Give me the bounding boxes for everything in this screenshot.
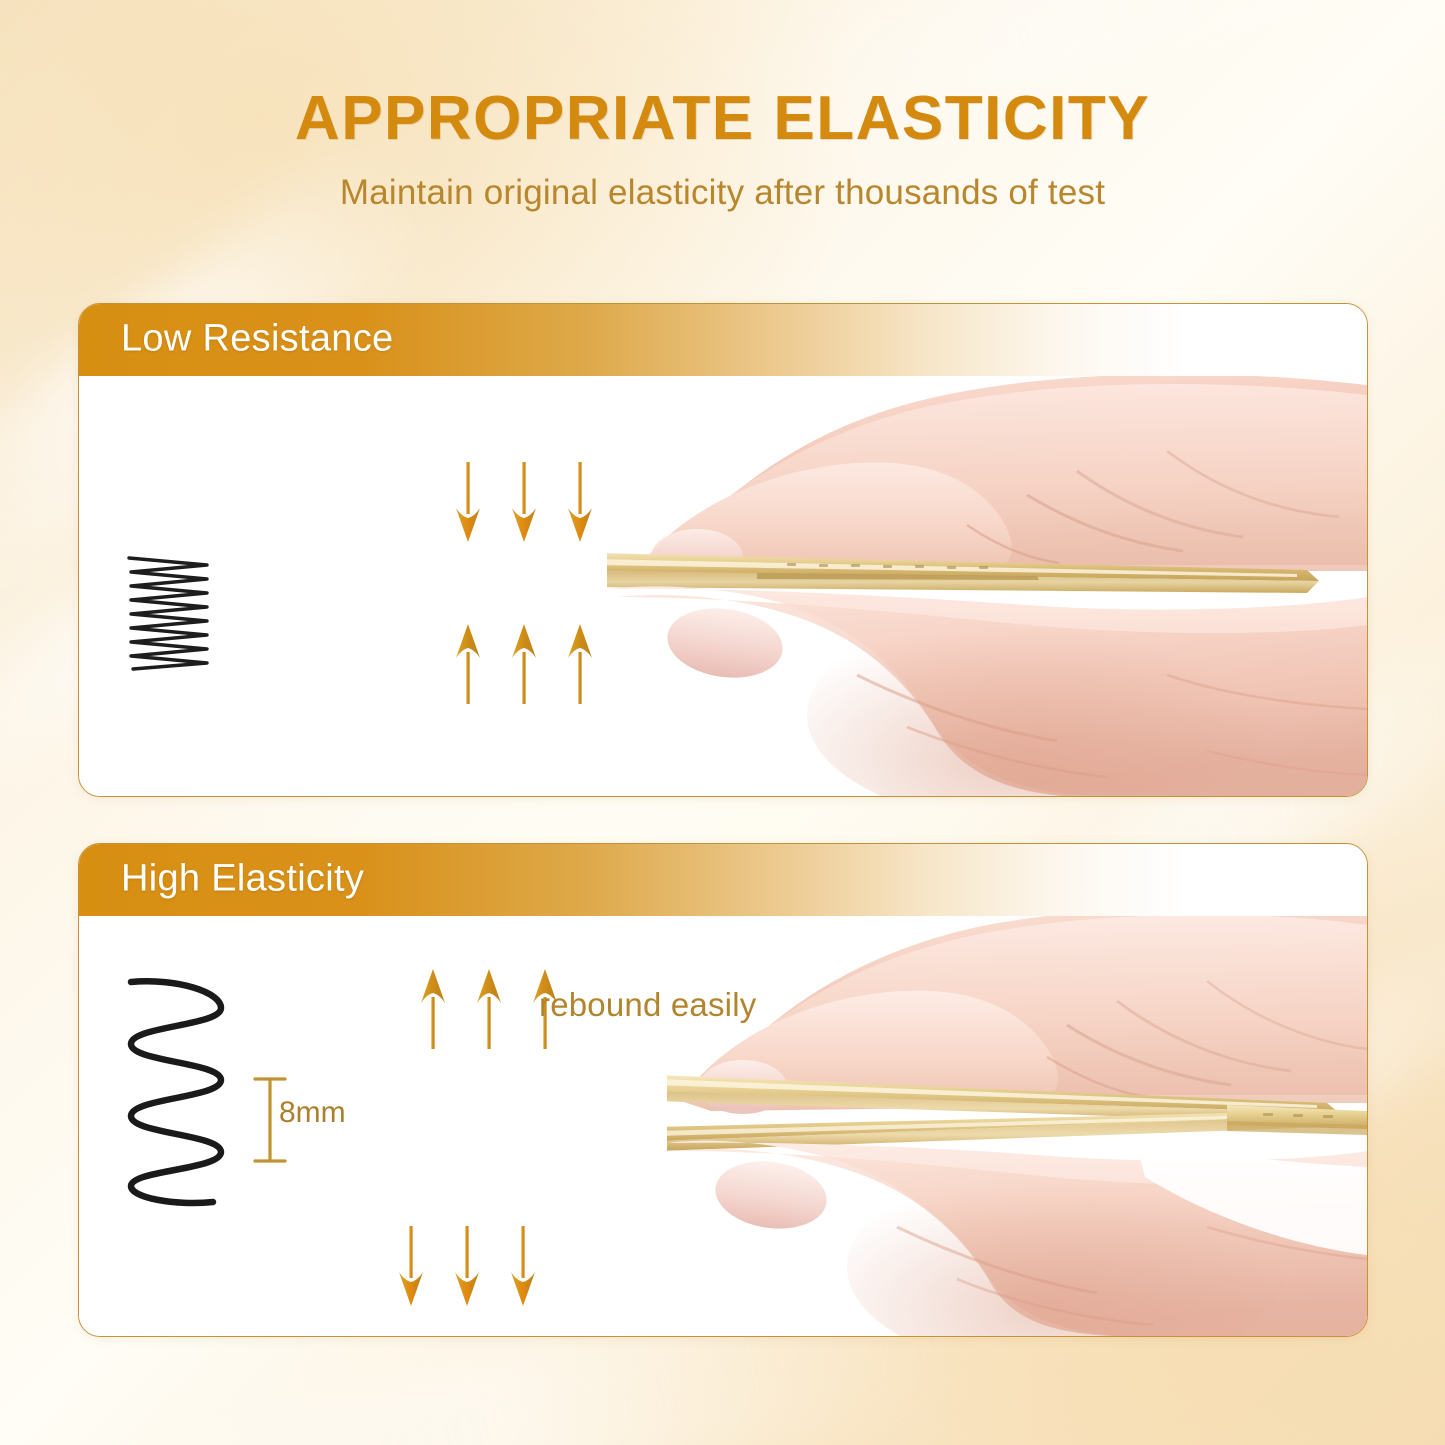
panel-low-resistance: Low Resistance [78,303,1368,797]
panel-body-high-elasticity: rebound easily 8mm [79,916,1367,1336]
arrow-down-icon [510,462,538,542]
arrow-up-icon [566,624,594,704]
photo-hand-open-tweezers [667,916,1367,1336]
arrow-group-up-low-resistance [454,624,594,704]
arrow-up-icon [454,624,482,704]
arrow-up-icon [510,624,538,704]
arrow-down-icon [454,462,482,542]
compressed-spring-icon [119,552,219,674]
page-subtitle: Maintain original elasticity after thous… [0,173,1445,213]
arrow-down-icon [509,1226,537,1306]
panel-banner-low-resistance: Low Resistance [79,304,1367,376]
panel-high-elasticity: High Elasticity [78,843,1368,1337]
panel-label-high-elasticity: High Elasticity [121,858,364,901]
arrow-up-icon [475,969,503,1049]
arrow-down-icon [397,1226,425,1306]
panel-banner-high-elasticity: High Elasticity [79,844,1367,916]
header: APPROPRIATE ELASTICITY Maintain original… [0,86,1445,213]
expanded-spring-icon [117,976,235,1208]
arrow-down-icon [566,462,594,542]
arrow-group-down-high-elasticity [397,1226,537,1306]
arrow-down-icon [453,1226,481,1306]
arrow-group-up-high-elasticity [419,969,559,1049]
photo-hand-closed-tweezers [607,376,1367,796]
panel-body-low-resistance [79,376,1367,796]
arrow-group-down-low-resistance [454,462,594,542]
dimension-label-8mm: 8mm [279,1096,346,1130]
page-title: APPROPRIATE ELASTICITY [0,86,1445,151]
rebound-easily-label: rebound easily [539,986,756,1024]
arrow-up-icon [419,969,447,1049]
panel-label-low-resistance: Low Resistance [121,318,393,361]
